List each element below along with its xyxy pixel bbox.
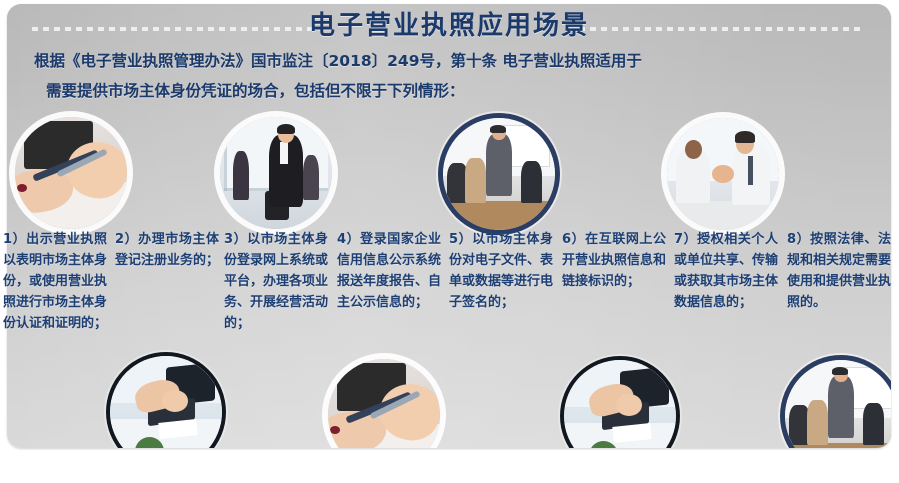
scenario-items-list: 1）出示营业执照以表明市场主体身份，或使用营业执照进行市场主体身份认证和证明的；… — [0, 0, 899, 483]
scenario-item-5: 5）以市场主体身份对电子文件、表单或数据等进行电子签名的； — [449, 229, 553, 313]
scenario-item-6: 6）在互联网上公开营业执照信息和链接标识的； — [562, 229, 666, 292]
scenario-item-8: 8）按照法律、法规和相关规定需要使用和提供营业执照的。 — [787, 229, 891, 313]
scenario-item-4: 4）登录国家企业信用信息公示系统报送年度报告、自主公示信息的； — [337, 229, 441, 313]
scenario-item-7: 7）授权相关个人或单位共享、传输或获取其市场主体数据信息的； — [674, 229, 778, 313]
poster-stage: 电子营业执照应用场景 根据《电子营业执照管理办法》国市监注〔2018〕249号，… — [0, 0, 899, 483]
scenario-item-2: 2）办理市场主体登记注册业务的； — [115, 229, 219, 271]
scenario-item-1: 1）出示营业执照以表明市场主体身份，或使用营业执照进行市场主体身份认证和证明的； — [3, 229, 107, 334]
scenario-item-3: 3）以市场主体身份登录网上系统或平台，办理各项业务、开展经营活动的； — [224, 229, 328, 334]
